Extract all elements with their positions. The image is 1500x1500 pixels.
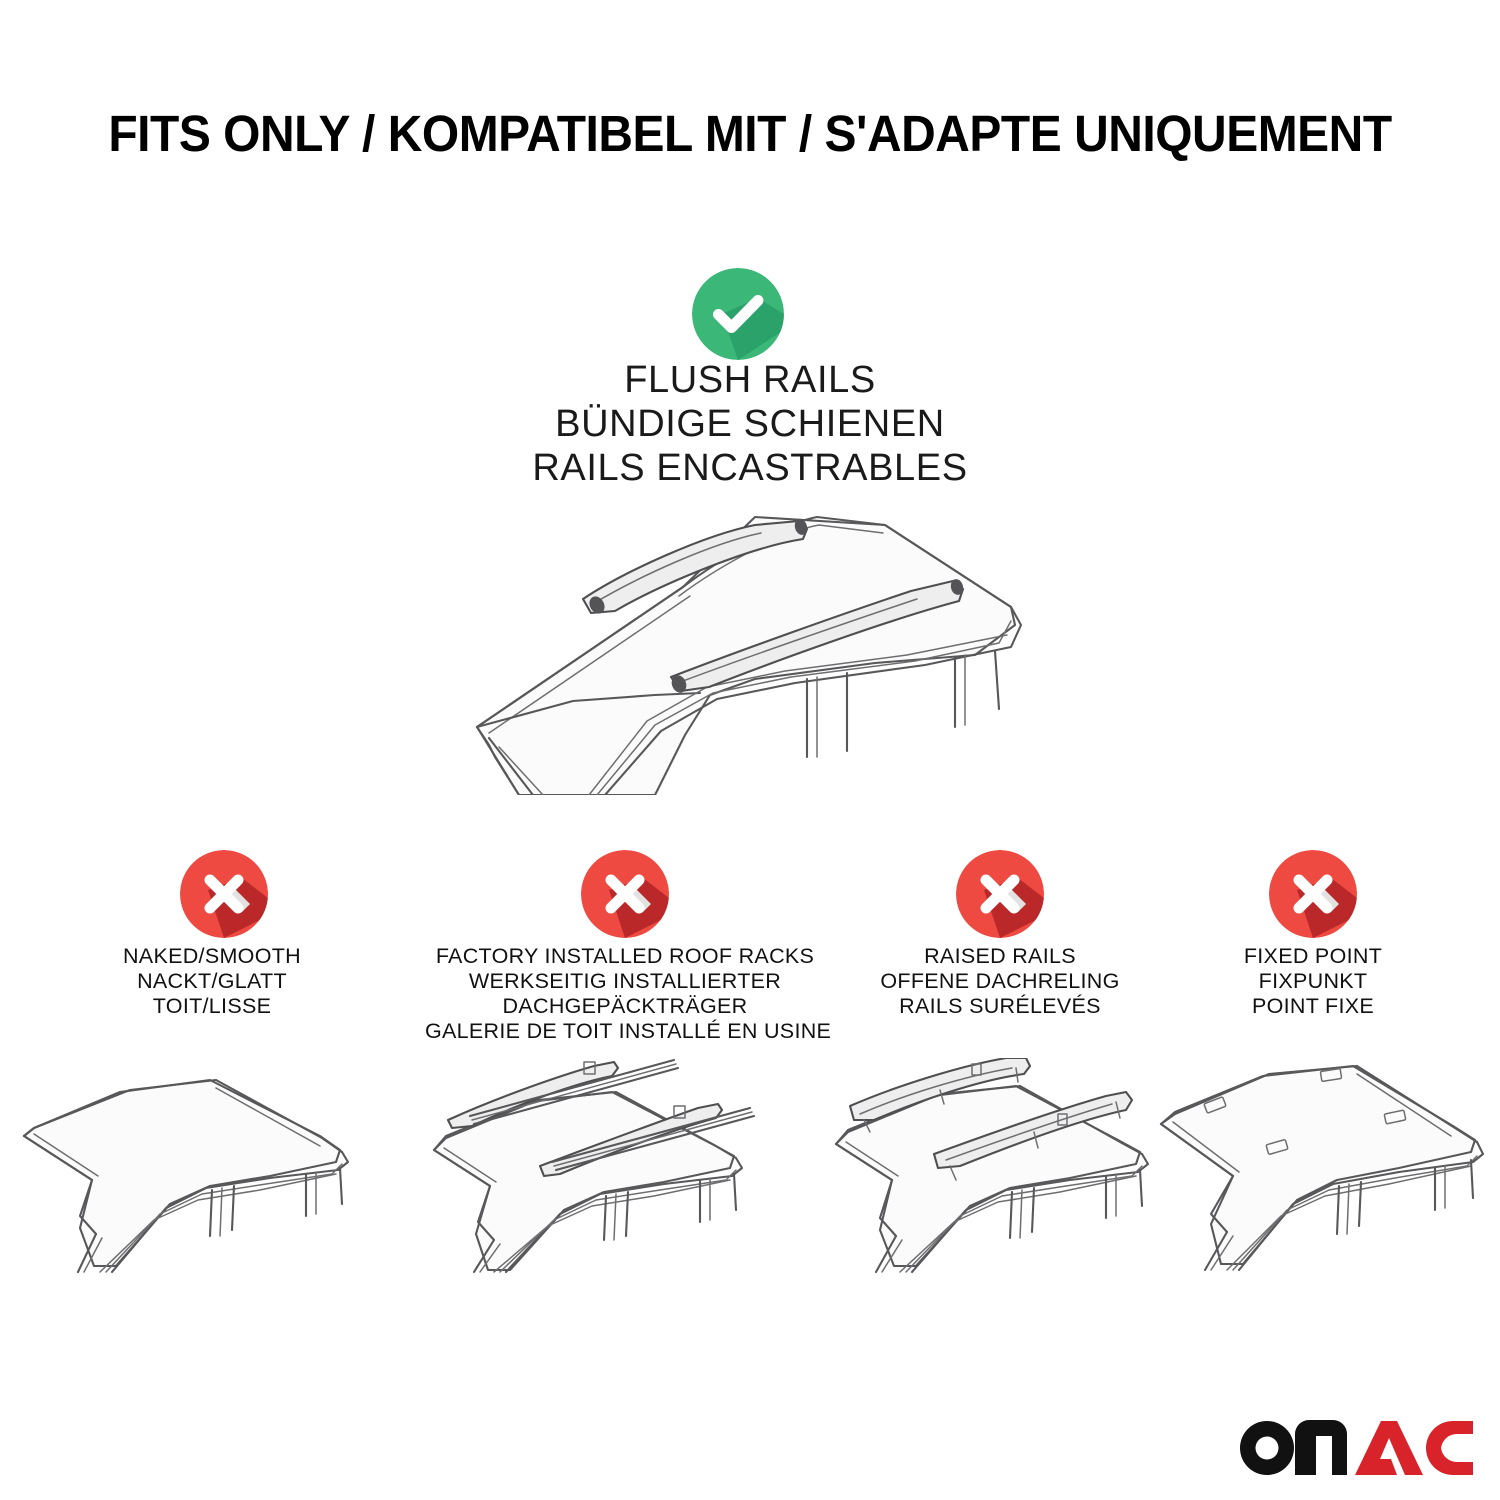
- cross-circle-icon: [581, 850, 669, 938]
- car-roof-with-fixed-points-illustration: [1141, 1058, 1500, 1278]
- caption-line: NAKED/SMOOTH: [12, 944, 412, 969]
- compatible-caption: FLUSH RAILS BÜNDIGE SCHIENEN RAILS ENCAS…: [300, 358, 1200, 490]
- compatibility-infographic: FITS ONLY / KOMPATIBEL MIT / S'ADAPTE UN…: [0, 0, 1500, 1500]
- caption-line: POINT FIXE: [1113, 994, 1500, 1019]
- check-circle-icon: [692, 268, 784, 360]
- compatible-line-3: RAILS ENCASTRABLES: [300, 446, 1200, 490]
- caption-line: GALERIE DE TOIT INSTALLÉ EN USINE: [425, 1019, 825, 1044]
- caption-line: DACHGEPÄCKTRÄGER: [425, 994, 825, 1019]
- omac-logo: [1237, 1412, 1473, 1478]
- page-title: FITS ONLY / KOMPATIBEL MIT / S'ADAPTE UN…: [45, 104, 1455, 163]
- caption-line: FIXED POINT: [1113, 944, 1500, 969]
- cross-circle-icon: [180, 850, 268, 938]
- car-roof-with-factory-crossbars-illustration: [412, 1058, 772, 1278]
- caption-line: TOIT/LISSE: [12, 994, 412, 1019]
- caption-line: NACKT/GLATT: [12, 969, 412, 994]
- compatible-line-1: FLUSH RAILS: [300, 358, 1200, 402]
- compatible-line-2: BÜNDIGE SCHIENEN: [300, 402, 1200, 446]
- incompatible-caption-naked-smooth: NAKED/SMOOTH NACKT/GLATT TOIT/LISSE: [12, 944, 412, 1019]
- cross-circle-icon: [956, 850, 1044, 938]
- car-roof-naked-illustration: [20, 1058, 380, 1278]
- car-roof-with-flush-rails-illustration: [455, 495, 1055, 795]
- car-roof-with-raised-rails-illustration: [820, 1058, 1180, 1278]
- incompatible-caption-factory-racks: FACTORY INSTALLED ROOF RACKS WERKSEITIG …: [425, 944, 825, 1044]
- caption-line: FACTORY INSTALLED ROOF RACKS: [425, 944, 825, 969]
- caption-line: FIXPUNKT: [1113, 969, 1500, 994]
- cross-circle-icon: [1269, 850, 1357, 938]
- incompatible-caption-fixed-point: FIXED POINT FIXPUNKT POINT FIXE: [1113, 944, 1500, 1019]
- caption-line: WERKSEITIG INSTALLIERTER: [425, 969, 825, 994]
